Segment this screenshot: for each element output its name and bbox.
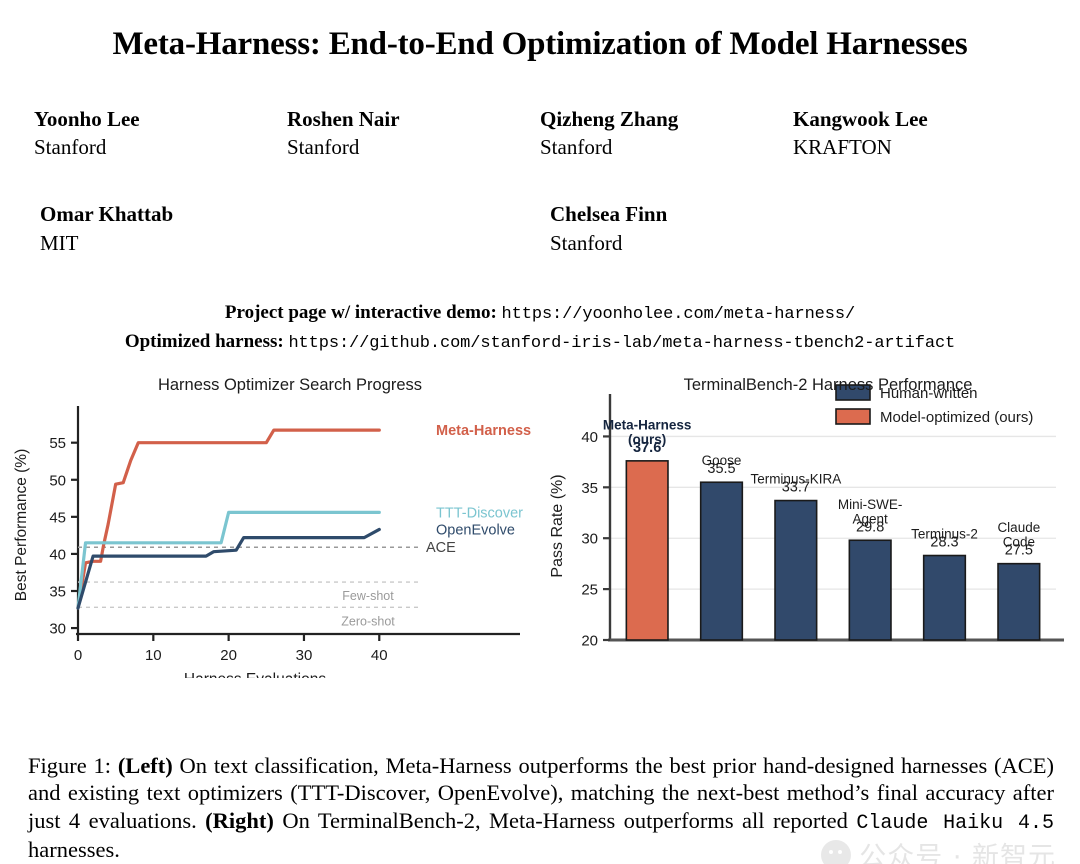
links-block: Project page w/ interactive demo: https:… xyxy=(0,299,1080,356)
author-entry: Roshen Nair Stanford xyxy=(287,106,540,162)
author-row: Yoonho Lee Stanford Roshen Nair Stanford… xyxy=(34,106,1046,162)
series-label-openevolve: OpenEvolve xyxy=(436,523,515,539)
bar-category-label: Terminus-2 xyxy=(911,527,978,542)
author-name: Chelsea Finn xyxy=(550,201,1046,227)
caption-figure-number: Figure 1: xyxy=(28,753,111,778)
author-entry: Yoonho Lee Stanford xyxy=(34,106,287,162)
figure-caption: Figure 1: (Left) On text classification,… xyxy=(28,752,1054,864)
bar-mini-swe-agent[interactable] xyxy=(849,541,891,641)
bar-category-label: Agent xyxy=(853,512,889,527)
caption-text-3: harnesses. xyxy=(28,837,120,862)
caption-text-2: On TerminalBench-2, Meta-Harness outperf… xyxy=(274,808,856,833)
x-tick-label: 20 xyxy=(220,647,237,664)
legend-label: Model-optimized (ours) xyxy=(880,409,1033,426)
baseline-label-few-shot: Few-shot xyxy=(342,589,394,603)
bar-category-label: Goose xyxy=(702,454,742,469)
y-tick-label: 55 xyxy=(49,436,66,453)
author-entry: Kangwook Lee KRAFTON xyxy=(793,106,1046,162)
label-separator: : xyxy=(277,331,288,352)
author-affiliation: MIT xyxy=(40,230,540,257)
y-tick-label: 40 xyxy=(49,547,66,564)
bar-category-label: Mini-SWE- xyxy=(838,497,903,512)
bar-meta-harness-ours-[interactable] xyxy=(626,461,668,640)
authors-block: Yoonho Lee Stanford Roshen Nair Stanford… xyxy=(0,106,1080,257)
author-name: Kangwook Lee xyxy=(793,106,1046,132)
bar-claudecode[interactable] xyxy=(998,564,1040,640)
author-affiliation: Stanford xyxy=(287,134,540,161)
series-label-ttt-discover: TTT-Discover xyxy=(436,506,523,522)
x-tick-label: 0 xyxy=(74,647,82,664)
author-name: Omar Khattab xyxy=(40,201,540,227)
bar-chart-svg: 202530354037.6Meta-Harness(ours)35.5Goos… xyxy=(540,372,1080,678)
baseline-label-zero-shot: Zero-shot xyxy=(341,615,395,629)
chart-terminalbench2-harness-performance: TerminalBench-2 Harness Performance 2025… xyxy=(540,372,1080,678)
bar-category-label: Code xyxy=(1003,535,1035,550)
x-tick-label: 30 xyxy=(296,647,313,664)
bar-category-label: Terminus-KIRA xyxy=(750,472,841,487)
y-tick-label: 20 xyxy=(581,633,598,650)
bar-terminus-kira[interactable] xyxy=(775,501,817,640)
optimized-harness-label: Optimized harness xyxy=(125,331,278,352)
x-tick-label: 40 xyxy=(371,647,388,664)
y-tick-label: 50 xyxy=(49,473,66,490)
series-line-ttt-discover xyxy=(78,513,379,609)
y-tick-label: 40 xyxy=(581,429,598,446)
chart-title-left: Harness Optimizer Search Progress xyxy=(0,376,540,395)
author-name: Yoonho Lee xyxy=(34,106,287,132)
optimized-harness-url[interactable]: https://github.com/stanford-iris-lab/met… xyxy=(288,334,955,353)
legend-swatch xyxy=(836,409,870,424)
x-axis-label: Harness Evaluations xyxy=(184,671,326,678)
figure-1: Harness Optimizer Search Progress 303540… xyxy=(0,372,1080,678)
optimized-harness-line: Optimized harness: https://github.com/st… xyxy=(0,328,1080,357)
y-tick-label: 35 xyxy=(49,584,66,601)
author-name: Qizheng Zhang xyxy=(540,106,793,132)
x-tick-label: 10 xyxy=(145,647,162,664)
author-affiliation: Stanford xyxy=(540,134,793,161)
author-entry: Chelsea Finn Stanford xyxy=(540,201,1046,257)
page-title: Meta-Harness: End-to-End Optimization of… xyxy=(18,26,1062,64)
label-separator: : xyxy=(490,302,501,323)
author-affiliation: Stanford xyxy=(34,134,287,161)
caption-left-tag: (Left) xyxy=(118,753,173,778)
author-row: Omar Khattab MIT Chelsea Finn Stanford xyxy=(34,201,1046,257)
bar-category-label: (ours) xyxy=(628,432,666,447)
y-tick-label: 25 xyxy=(581,582,598,599)
baseline-label-ace: ACE xyxy=(426,541,456,557)
y-tick-label: 30 xyxy=(581,531,598,548)
y-tick-label: 30 xyxy=(49,621,66,638)
caption-mono-term: Claude Haiku 4.5 xyxy=(856,812,1054,835)
series-line-meta-harness xyxy=(78,430,379,608)
project-page-label: Project page w/ interactive demo xyxy=(225,302,491,323)
author-affiliation: Stanford xyxy=(550,230,1046,257)
bar-category-label: Meta-Harness xyxy=(603,418,692,433)
y-tick-label: 35 xyxy=(581,480,598,497)
y-axis-label: Best Performance (%) xyxy=(13,449,30,601)
author-entry: Omar Khattab MIT xyxy=(34,201,540,257)
bar-terminus-2[interactable] xyxy=(924,556,966,640)
chart-title-right: TerminalBench-2 Harness Performance xyxy=(540,376,1080,395)
bar-category-label: Claude xyxy=(997,520,1040,535)
project-page-url[interactable]: https://yoonholee.com/meta-harness/ xyxy=(502,305,856,324)
project-page-line: Project page w/ interactive demo: https:… xyxy=(0,299,1080,328)
chart-harness-optimizer-search-progress: Harness Optimizer Search Progress 303540… xyxy=(0,372,540,678)
series-label-meta-harness: Meta-Harness xyxy=(436,423,531,439)
y-tick-label: 45 xyxy=(49,510,66,527)
author-entry: Qizheng Zhang Stanford xyxy=(540,106,793,162)
bar-goose[interactable] xyxy=(701,483,743,641)
author-affiliation: KRAFTON xyxy=(793,134,1046,161)
y-axis-label: Pass Rate (%) xyxy=(549,475,566,578)
author-name: Roshen Nair xyxy=(287,106,540,132)
caption-right-tag: (Right) xyxy=(205,808,274,833)
line-chart-svg: 303540455055010203040ACEFew-shotZero-sho… xyxy=(0,372,540,678)
